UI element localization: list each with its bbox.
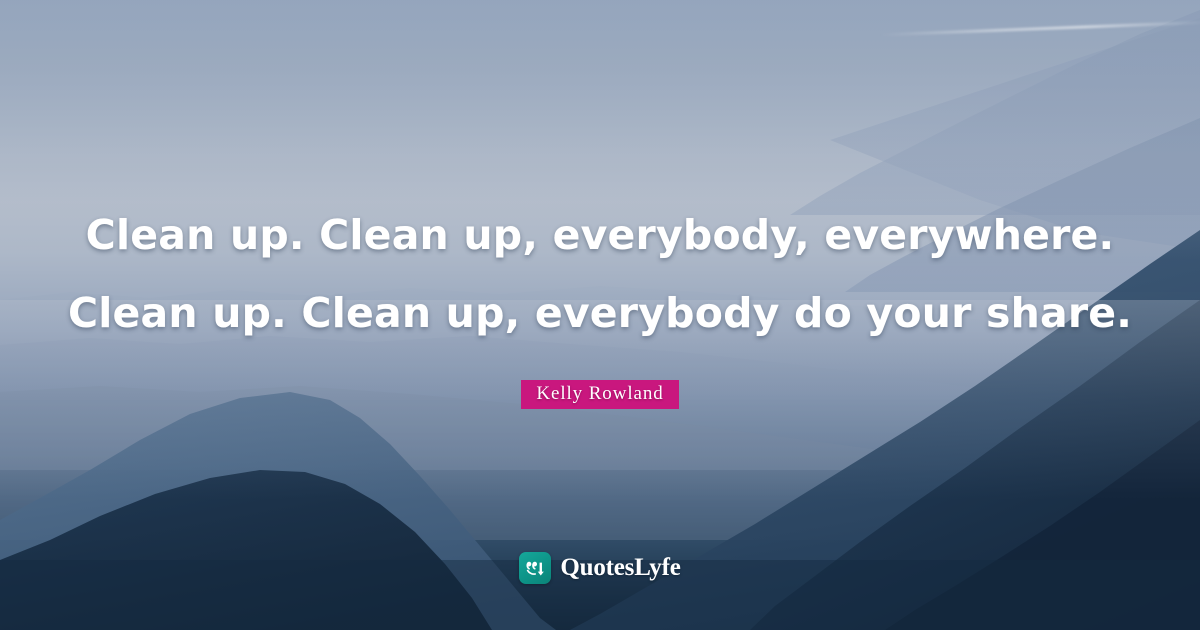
- quote-line-1: Clean up. Clean up, everybody, everywher…: [40, 196, 1160, 274]
- quote-image-card: Clean up. Clean up, everybody, everywher…: [0, 0, 1200, 630]
- site-name: QuotesLyfe: [560, 554, 680, 582]
- quote-text-block: Clean up. Clean up, everybody, everywher…: [0, 196, 1200, 352]
- author-name-badge: Kelly Rowland: [521, 380, 678, 409]
- site-branding: QuotesLyfe: [0, 552, 1200, 584]
- quote-line-2: Clean up. Clean up, everybody do your sh…: [40, 274, 1160, 352]
- author-attribution: Kelly Rowland: [0, 380, 1200, 409]
- quote-content: Clean up. Clean up, everybody, everywher…: [0, 0, 1200, 630]
- quotation-mark-icon: [519, 552, 551, 584]
